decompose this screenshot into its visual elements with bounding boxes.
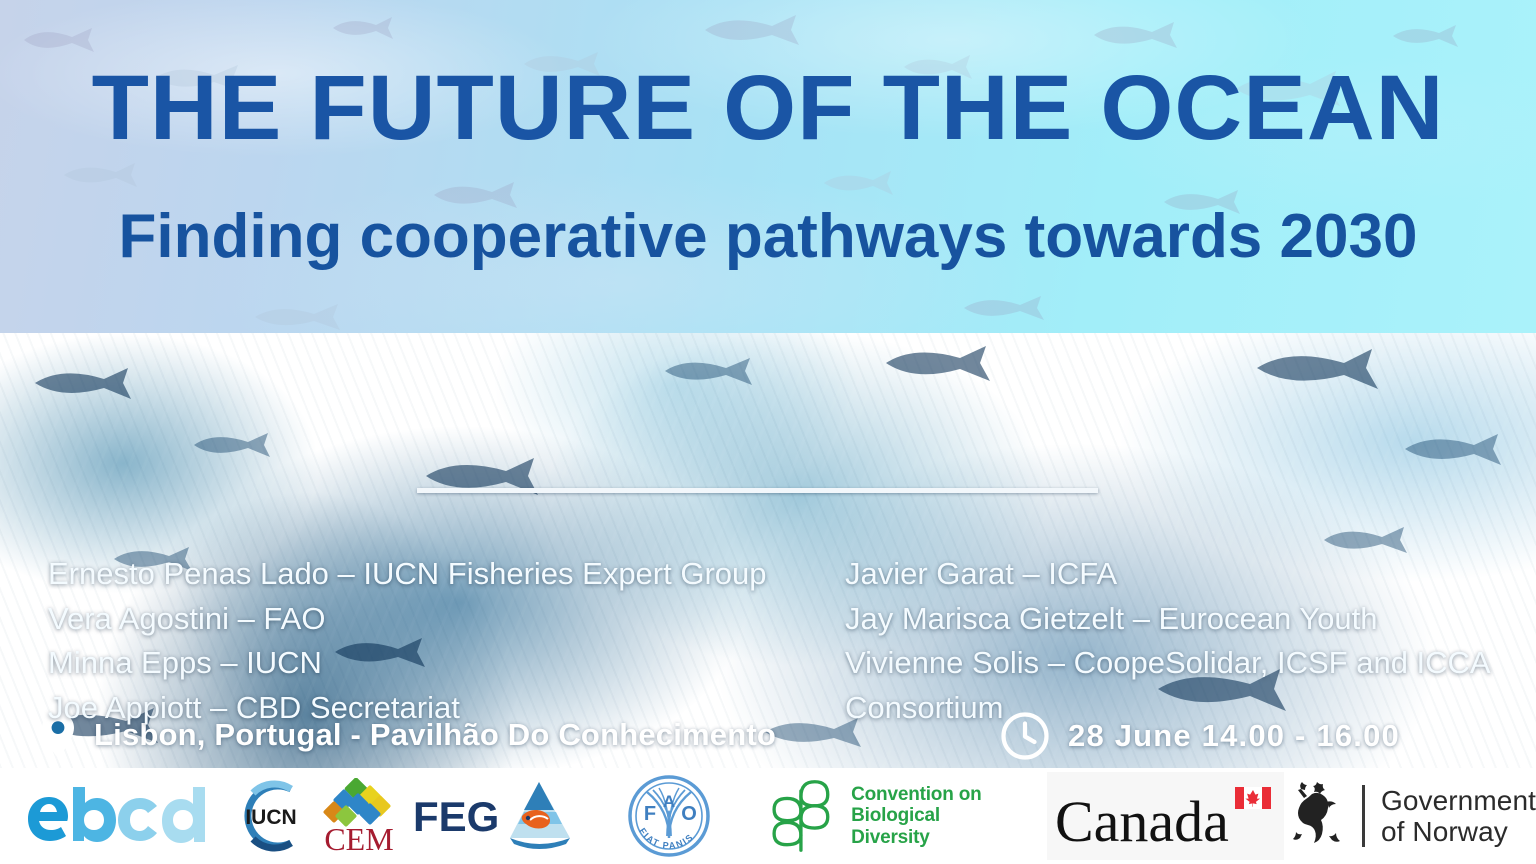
cem-logo-mark: CEM: [312, 778, 406, 854]
ocean-photo-band: Lisbon, Portugal - Pavilhão Do Conhecime…: [0, 333, 1536, 768]
fish-silhouette: [700, 10, 820, 50]
iucn-text: IUCN: [245, 806, 296, 829]
ebcd-logo-mark: [23, 785, 209, 847]
header-band: THE FUTURE OF THE OCEAN Finding cooperat…: [0, 0, 1536, 333]
fish-silhouette: [880, 341, 1010, 385]
svg-text:O: O: [681, 803, 697, 825]
norway-lion-icon: [1290, 778, 1346, 854]
fish-silhouette: [1250, 343, 1400, 393]
norway-text: Government of Norway: [1381, 785, 1536, 848]
list-item: Vivienne Solis – CoopeSolidar, ICSF and …: [845, 641, 1505, 730]
list-item: Ernesto Penas Lado – IUCN Fisheries Expe…: [48, 552, 838, 597]
list-item: Vera Agostini – FAO: [48, 597, 838, 642]
fish-silhouette: [30, 363, 150, 403]
iucn-logo: IUCN: [232, 768, 309, 864]
page-subtitle: Finding cooperative pathways towards 203…: [0, 206, 1536, 268]
norway-line-1: Government: [1381, 785, 1536, 816]
event-poster: THE FUTURE OF THE OCEAN Finding cooperat…: [0, 0, 1536, 864]
cbd-logo: Convention on Biological Diversity: [763, 768, 1010, 864]
cbd-line-2: Biological Diversity: [851, 805, 1010, 848]
ebcd-logo: [22, 768, 210, 864]
page-title: THE FUTURE OF THE OCEAN: [0, 62, 1536, 154]
svg-text:A: A: [663, 792, 675, 811]
logo-divider: [1362, 785, 1365, 847]
canada-wordmark-mark: Canada: [1049, 779, 1281, 853]
list-item: Minna Epps – IUCN: [48, 641, 838, 686]
cbd-leaf-icon: [763, 775, 839, 857]
canada-text: Canada: [1055, 789, 1229, 853]
svg-text:F: F: [644, 803, 656, 825]
speakers-column-right: Javier Garat – ICFA Jay Marisca Gietzelt…: [845, 552, 1505, 731]
fao-logo: F A O FIAT PANIS: [626, 768, 711, 864]
fish-silhouette: [660, 353, 768, 389]
fao-logo-mark: F A O FIAT PANIS: [627, 774, 711, 858]
feg-text: FEG: [413, 793, 499, 840]
fish-silhouette: [960, 292, 1060, 324]
feg-fish-emblem: [503, 768, 574, 864]
cem-logo: CEM: [311, 768, 406, 864]
fish-silhouette: [1090, 18, 1194, 52]
feg-fish-icon: [504, 780, 574, 852]
list-item: Joe Appiott – CBD Secretariat: [48, 686, 838, 731]
canada-wordmark: Canada: [1047, 772, 1284, 860]
sponsor-logo-bar: IUCN CEM FEG: [0, 768, 1536, 864]
feg-logo: FEG: [408, 768, 503, 864]
fish-silhouette: [1390, 22, 1472, 50]
fish-silhouette: [1400, 429, 1520, 469]
cbd-text: Convention on Biological Diversity: [851, 784, 1010, 848]
speakers-column-left: Ernesto Penas Lado – IUCN Fisheries Expe…: [48, 552, 838, 731]
list-item: Jay Marisca Gietzelt – Eurocean Youth: [845, 597, 1505, 642]
iucn-logo-mark: IUCN: [233, 779, 309, 853]
cem-text: CEM: [324, 821, 393, 854]
fish-silhouette: [20, 24, 110, 56]
fish-silhouette: [820, 168, 908, 198]
canada-flag-icon: [1235, 787, 1271, 809]
feg-logo-mark: FEG: [409, 791, 503, 841]
list-item: Javier Garat – ICFA: [845, 552, 1505, 597]
fish-silhouette: [190, 429, 286, 461]
fish-silhouette: [60, 160, 152, 190]
norway-line-2: of Norway: [1381, 816, 1536, 847]
cbd-line-1: Convention on: [851, 784, 1010, 805]
section-divider: [417, 488, 1098, 493]
norway-logo: Government of Norway: [1290, 768, 1536, 864]
fish-silhouette: [250, 300, 360, 333]
fish-silhouette: [330, 14, 408, 42]
